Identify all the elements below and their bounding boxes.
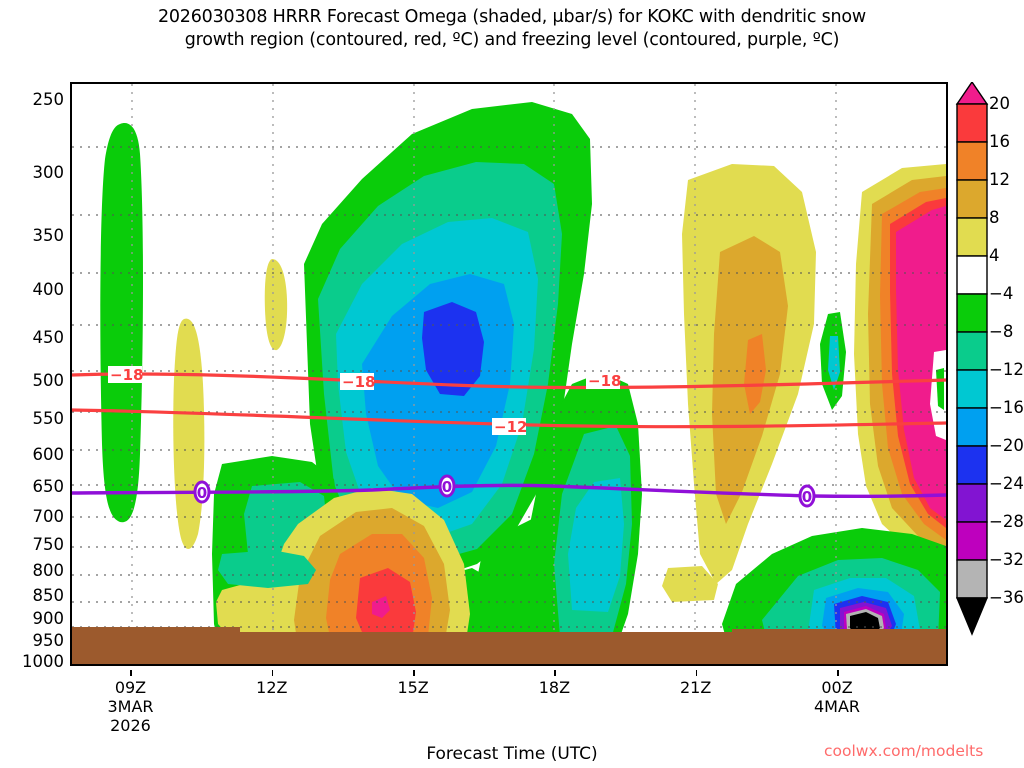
x-tick-time: 18Z xyxy=(509,678,599,697)
y-axis: 2503003504004505005506006507007508008509… xyxy=(0,82,64,666)
x-tick-mark xyxy=(554,670,556,676)
watermark: coolwx.com/modelts xyxy=(824,742,983,760)
colorbar-tick--32: −32 xyxy=(989,550,1024,569)
colorbar[interactable]: 20161284−4−8−12−16−20−24−28−32−36 xyxy=(955,82,1021,682)
y-tick-label-850: 850 xyxy=(6,586,64,605)
x-tick-date: 3MAR xyxy=(85,697,175,716)
y-tick-label-400: 400 xyxy=(6,280,64,299)
x-tick-time: 00Z xyxy=(792,678,882,697)
y-tick-label-750: 750 xyxy=(6,535,64,554)
svg-text:−12: −12 xyxy=(494,418,527,436)
chart-title-line2: growth region (contoured, red, ºC) and f… xyxy=(0,29,1024,52)
colorbar-tick-12: 12 xyxy=(989,170,1010,189)
y-tick-label-500: 500 xyxy=(6,371,64,390)
y-tick-label-1000: 1000 xyxy=(6,652,64,671)
svg-text:0: 0 xyxy=(802,488,812,506)
x-tick-mark xyxy=(272,670,274,676)
x-tick-year: 2026 xyxy=(85,716,175,735)
colorbar-tick-4: 4 xyxy=(989,246,1000,265)
colorbar-tick-16: 16 xyxy=(989,132,1010,151)
y-tick-label-550: 550 xyxy=(6,409,64,428)
svg-text:−18: −18 xyxy=(342,373,375,391)
x-tick-00Z: 00Z4MAR xyxy=(792,678,882,716)
y-tick-label-600: 600 xyxy=(6,445,64,464)
x-tick-time: 21Z xyxy=(651,678,741,697)
omega-cross-section: −18 −18 −18 −12 0 0 0 xyxy=(72,84,946,664)
colorbar-tick--36: −36 xyxy=(989,588,1024,607)
x-tick-time: 09Z xyxy=(85,678,175,697)
x-tick-time: 12Z xyxy=(227,678,317,697)
x-tick-date: 4MAR xyxy=(792,697,882,716)
colorbar-tick--20: −20 xyxy=(989,436,1024,455)
y-tick-label-350: 350 xyxy=(6,226,64,245)
x-tick-mark xyxy=(413,670,415,676)
colorbar-tick--4: −4 xyxy=(989,284,1013,303)
x-tick-12Z: 12Z xyxy=(227,678,317,697)
svg-text:−18: −18 xyxy=(588,372,621,390)
x-tick-time: 15Z xyxy=(368,678,458,697)
x-tick-18Z: 18Z xyxy=(509,678,599,697)
svg-text:0: 0 xyxy=(197,484,207,502)
x-tick-mark xyxy=(130,670,132,676)
x-tick-09Z: 09Z3MAR2026 xyxy=(85,678,175,735)
y-tick-label-300: 300 xyxy=(6,163,64,182)
colorbar-tick--8: −8 xyxy=(989,322,1013,341)
x-tick-mark xyxy=(696,670,698,676)
colorbar-tick--24: −24 xyxy=(989,474,1024,493)
colorbar-tick--16: −16 xyxy=(989,398,1024,417)
colorbar-swatches xyxy=(955,82,1021,676)
svg-text:−18: −18 xyxy=(110,366,143,384)
colorbar-tick-8: 8 xyxy=(989,208,1000,227)
plot-area[interactable]: −18 −18 −18 −12 0 0 0 xyxy=(70,82,948,666)
colorbar-tick-20: 20 xyxy=(989,94,1010,113)
y-tick-label-650: 650 xyxy=(6,477,64,496)
chart-title: 2026030308 HRRR Forecast Omega (shaded, … xyxy=(0,6,1024,52)
x-tick-15Z: 15Z xyxy=(368,678,458,697)
omega-shading xyxy=(100,102,946,660)
colorbar-tick--12: −12 xyxy=(989,360,1024,379)
x-tick-21Z: 21Z xyxy=(651,678,741,697)
y-tick-label-450: 450 xyxy=(6,328,64,347)
y-tick-label-900: 900 xyxy=(6,609,64,628)
svg-text:0: 0 xyxy=(442,478,452,496)
x-tick-mark xyxy=(837,670,839,676)
y-tick-label-800: 800 xyxy=(6,561,64,580)
terrain-fill xyxy=(72,627,946,664)
y-tick-label-950: 950 xyxy=(6,631,64,650)
y-tick-label-250: 250 xyxy=(6,90,64,109)
colorbar-tick--28: −28 xyxy=(989,512,1024,531)
chart-title-line1: 2026030308 HRRR Forecast Omega (shaded, … xyxy=(158,7,866,27)
y-tick-label-700: 700 xyxy=(6,507,64,526)
